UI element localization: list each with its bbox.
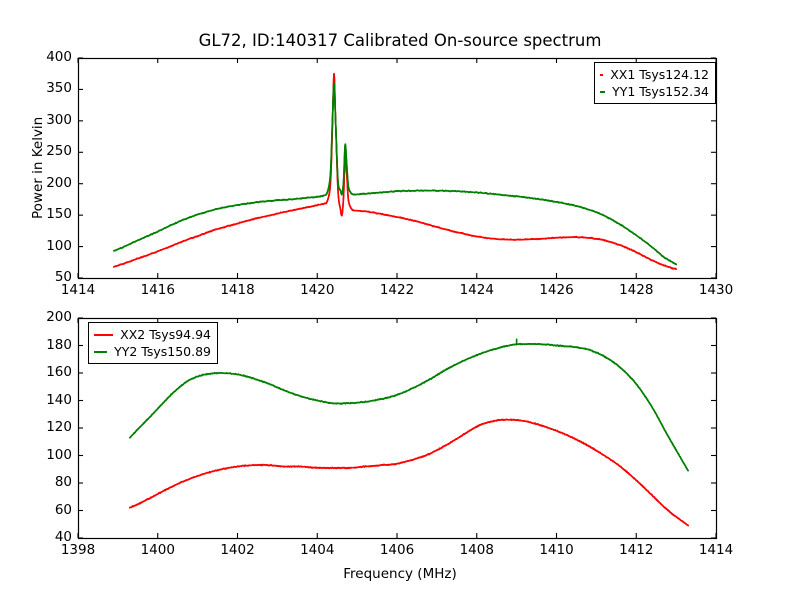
x-tick-label: 1404	[287, 542, 347, 558]
top-panel-legend[interactable]: XX1 Tsys124.12 YY1 Tsys152.34	[594, 62, 716, 104]
spectrum-trace-noise	[130, 419, 688, 525]
bottom-panel-legend[interactable]: XX2 Tsys94.94 YY2 Tsys150.89	[88, 322, 218, 364]
x-tick-label: 1412	[606, 542, 666, 558]
legend-label: YY1 Tsys152.34	[612, 84, 709, 99]
x-tick-label: 1426	[527, 282, 587, 298]
legend-item[interactable]: XX1 Tsys124.12	[600, 66, 709, 83]
x-tick-label: 1418	[208, 282, 268, 298]
y-tick-label: 250	[16, 143, 72, 159]
y-tick-label: 60	[16, 502, 72, 518]
y-tick-label: 200	[16, 175, 72, 191]
legend-item[interactable]: YY2 Tsys150.89	[94, 343, 211, 360]
spectrum-figure: GL72, ID:140317 Calibrated On-source spe…	[0, 0, 800, 600]
x-tick-label: 1422	[367, 282, 427, 298]
spectrum-trace	[130, 420, 688, 526]
x-tick-label: 1410	[527, 542, 587, 558]
y-tick-label: 50	[16, 269, 72, 285]
y-tick-label: 80	[16, 474, 72, 490]
y-tick-label: 140	[16, 392, 72, 408]
figure-title: GL72, ID:140317 Calibrated On-source spe…	[0, 31, 800, 50]
top-panel-y-axis-label: Power in Kelvin	[30, 117, 46, 219]
y-tick-label: 350	[16, 80, 72, 96]
x-tick-label: 1416	[128, 282, 188, 298]
x-tick-label: 1408	[447, 542, 507, 558]
legend-color-swatch-green	[94, 351, 107, 353]
spectrum-trace	[114, 74, 676, 270]
y-tick-label: 160	[16, 364, 72, 380]
bottom-panel-x-axis-label: Frequency (MHz)	[0, 566, 800, 582]
spectrum-trace-noise	[114, 74, 676, 269]
legend-color-swatch-red	[94, 334, 113, 336]
x-tick-label: 1414	[686, 542, 746, 558]
spectrum-trace-noise	[114, 83, 676, 265]
y-tick-label: 40	[16, 529, 72, 545]
x-tick-label: 1430	[686, 282, 746, 298]
y-tick-label: 400	[16, 49, 72, 65]
x-tick-label: 1406	[367, 542, 427, 558]
legend-color-swatch-red	[600, 74, 603, 76]
legend-color-swatch-green	[600, 91, 605, 93]
y-tick-label: 150	[16, 206, 72, 222]
legend-label: XX1 Tsys124.12	[610, 67, 709, 82]
y-tick-label: 100	[16, 447, 72, 463]
x-tick-label: 1420	[287, 282, 347, 298]
x-tick-label: 1402	[208, 542, 268, 558]
legend-label: XX2 Tsys94.94	[120, 327, 211, 342]
y-tick-label: 120	[16, 419, 72, 435]
legend-item[interactable]: XX2 Tsys94.94	[94, 326, 211, 343]
spectrum-trace	[114, 83, 676, 264]
y-tick-label: 100	[16, 238, 72, 254]
legend-label: YY2 Tsys150.89	[114, 344, 211, 359]
x-tick-label: 1424	[447, 282, 507, 298]
y-tick-label: 200	[16, 309, 72, 325]
y-tick-label: 300	[16, 112, 72, 128]
legend-item[interactable]: YY1 Tsys152.34	[600, 83, 709, 100]
x-tick-label: 1428	[606, 282, 666, 298]
y-tick-label: 180	[16, 337, 72, 353]
x-tick-label: 1400	[128, 542, 188, 558]
